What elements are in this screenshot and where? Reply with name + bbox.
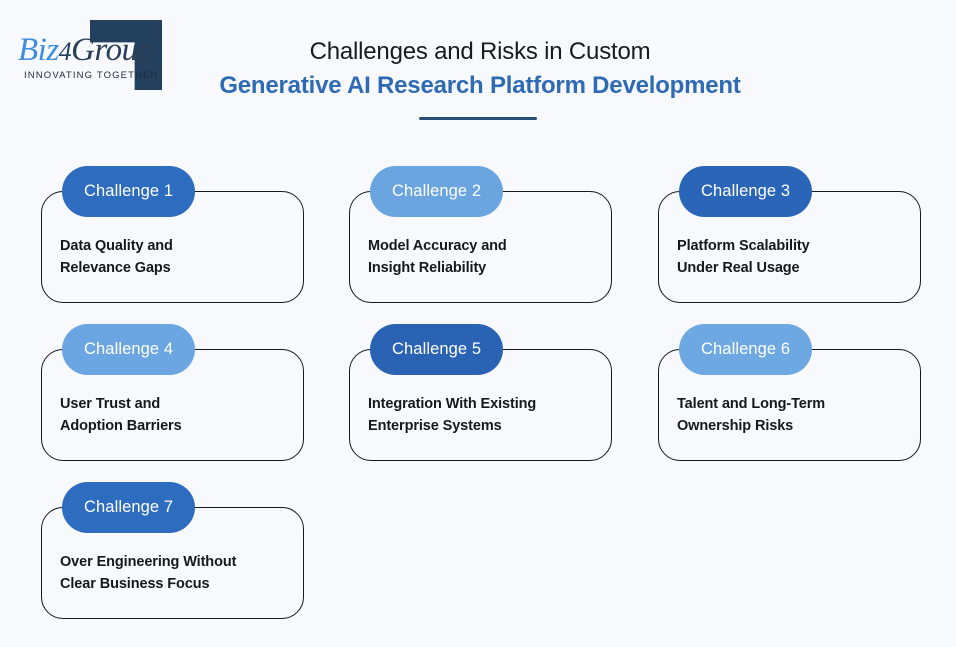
- card-text-line-2: Enterprise Systems: [368, 415, 599, 437]
- logo-word-four: 4: [59, 37, 72, 66]
- challenges-grid: Data Quality and Relevance Gaps Challeng…: [41, 166, 921, 640]
- challenge-card-2[interactable]: Model Accuracy and Insight Reliability C…: [349, 166, 612, 303]
- infographic-page: Biz4Group INNOVATING TOGETHER Challenges…: [0, 0, 956, 647]
- page-title: Challenges and Risks in Custom Generativ…: [190, 36, 770, 103]
- card-badge[interactable]: Challenge 1: [62, 166, 195, 217]
- card-text-line-1: Integration With Existing: [368, 393, 599, 415]
- card-text-line-2: Clear Business Focus: [60, 573, 291, 595]
- header: Biz4Group INNOVATING TOGETHER Challenges…: [0, 0, 956, 135]
- biz4group-logo: Biz4Group INNOVATING TOGETHER: [18, 18, 178, 93]
- card-text-line-1: Data Quality and: [60, 235, 291, 257]
- card-text-line-2: Adoption Barriers: [60, 415, 291, 437]
- card-badge[interactable]: Challenge 7: [62, 482, 195, 533]
- challenge-card-4[interactable]: User Trust and Adoption Barriers Challen…: [41, 324, 304, 461]
- logo-word-biz: Biz: [18, 32, 59, 68]
- card-badge[interactable]: Challenge 3: [679, 166, 812, 217]
- title-line-1: Challenges and Risks in Custom: [190, 36, 770, 68]
- challenge-card-3[interactable]: Platform Scalability Under Real Usage Ch…: [658, 166, 921, 303]
- card-badge[interactable]: Challenge 5: [370, 324, 503, 375]
- card-text-line-1: Talent and Long-Term: [677, 393, 908, 415]
- card-text: Platform Scalability Under Real Usage: [677, 235, 908, 279]
- card-text: Over Engineering Without Clear Business …: [60, 551, 291, 595]
- card-text: Talent and Long-Term Ownership Risks: [677, 393, 908, 437]
- challenge-card-1[interactable]: Data Quality and Relevance Gaps Challeng…: [41, 166, 304, 303]
- logo-tagline: INNOVATING TOGETHER: [24, 70, 159, 81]
- card-text-line-1: Over Engineering Without: [60, 551, 291, 573]
- card-text: User Trust and Adoption Barriers: [60, 393, 291, 437]
- card-badge[interactable]: Challenge 6: [679, 324, 812, 375]
- card-text: Data Quality and Relevance Gaps: [60, 235, 291, 279]
- title-underline-accent: [419, 117, 537, 120]
- card-badge[interactable]: Challenge 4: [62, 324, 195, 375]
- card-badge[interactable]: Challenge 2: [370, 166, 503, 217]
- challenges-row: Data Quality and Relevance Gaps Challeng…: [41, 166, 921, 324]
- card-text-line-2: Under Real Usage: [677, 257, 908, 279]
- card-text-line-2: Relevance Gaps: [60, 257, 291, 279]
- logo-word-group: Group: [71, 32, 153, 68]
- title-line-2: Generative AI Research Platform Developm…: [190, 70, 770, 102]
- card-text-line-1: Model Accuracy and: [368, 235, 599, 257]
- challenge-card-6[interactable]: Talent and Long-Term Ownership Risks Cha…: [658, 324, 921, 461]
- card-text-line-1: Platform Scalability: [677, 235, 908, 257]
- card-text-line-2: Ownership Risks: [677, 415, 908, 437]
- card-text: Model Accuracy and Insight Reliability: [368, 235, 599, 279]
- challenge-card-5[interactable]: Integration With Existing Enterprise Sys…: [349, 324, 612, 461]
- challenges-row: Over Engineering Without Clear Business …: [41, 482, 921, 640]
- challenge-card-7[interactable]: Over Engineering Without Clear Business …: [41, 482, 304, 619]
- challenges-row: User Trust and Adoption Barriers Challen…: [41, 324, 921, 482]
- card-text: Integration With Existing Enterprise Sys…: [368, 393, 599, 437]
- card-text-line-1: User Trust and: [60, 393, 291, 415]
- logo-wordmark: Biz4Group: [18, 34, 148, 67]
- card-text-line-2: Insight Reliability: [368, 257, 599, 279]
